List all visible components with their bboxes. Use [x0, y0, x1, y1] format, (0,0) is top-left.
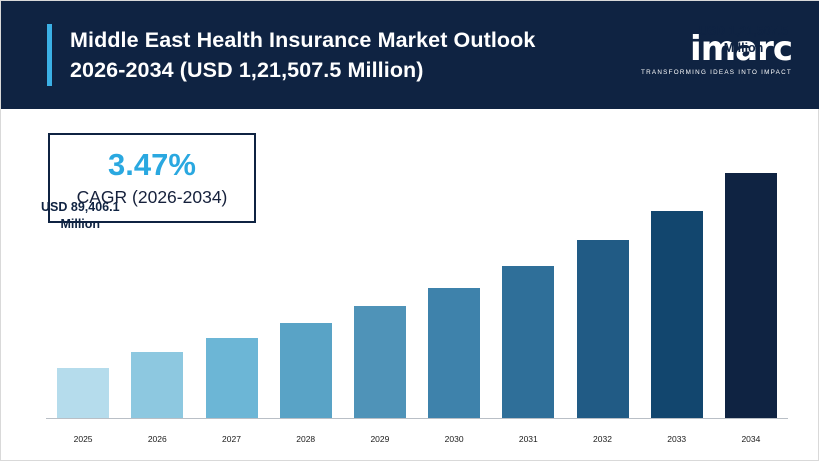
first-value-callout: USD 89,406.1 Million — [41, 199, 120, 233]
first-value-line-1: USD 89,406.1 — [41, 199, 120, 216]
last-value-line-2: Million — [699, 40, 788, 57]
title-line-1: Middle East Health Insurance Market Outl… — [70, 25, 535, 55]
x-tick-label: 2032 — [593, 434, 612, 444]
logo-tagline: TRANSFORMING IDEAS INTO IMPACT — [602, 68, 792, 78]
accent-bar — [47, 24, 52, 86]
bar — [651, 211, 703, 418]
bar-slot: 2031 — [491, 158, 565, 418]
first-value-line-2: Million — [41, 216, 120, 233]
bar — [206, 338, 258, 418]
x-tick-label: 2029 — [370, 434, 389, 444]
bar-slot: 2033 — [640, 158, 714, 418]
bar — [502, 266, 554, 418]
x-tick-label: 2031 — [519, 434, 538, 444]
bar-slot: 2027 — [194, 158, 268, 418]
header-banner: Middle East Health Insurance Market Outl… — [1, 1, 819, 109]
bar — [725, 173, 777, 418]
bar-slot: 2032 — [565, 158, 639, 418]
bar-slot: 2025 — [46, 158, 120, 418]
last-value-line-1: USD 1,21,507.5 — [699, 23, 788, 40]
last-value-callout: USD 1,21,507.5 Million — [699, 23, 788, 57]
x-tick-label: 2034 — [741, 434, 760, 444]
bar-slot: 2028 — [269, 158, 343, 418]
bar-series: 2025202620272028202920302031203220332034 — [46, 158, 788, 418]
bar-slot: 2030 — [417, 158, 491, 418]
x-tick-label: 2028 — [296, 434, 315, 444]
x-tick-label: 2026 — [148, 434, 167, 444]
bar-chart: 2025202620272028202920302031203220332034 — [1, 109, 819, 461]
title-line-2: 2026-2034 (USD 1,21,507.5 Million) — [70, 55, 535, 85]
x-tick-label: 2027 — [222, 434, 241, 444]
bar — [57, 368, 109, 418]
bar — [577, 240, 629, 418]
bar-slot: 2034 — [714, 158, 788, 418]
page-title: Middle East Health Insurance Market Outl… — [70, 25, 535, 85]
bar — [428, 288, 480, 418]
bar-slot: 2029 — [343, 158, 417, 418]
infographic-page: Middle East Health Insurance Market Outl… — [0, 0, 819, 461]
x-tick-label: 2030 — [445, 434, 464, 444]
bar — [280, 323, 332, 418]
bar — [354, 306, 406, 418]
x-tick-label: 2025 — [74, 434, 93, 444]
bar-slot: 2026 — [120, 158, 194, 418]
x-axis-line — [46, 418, 788, 419]
x-tick-label: 2033 — [667, 434, 686, 444]
bar — [131, 352, 183, 418]
